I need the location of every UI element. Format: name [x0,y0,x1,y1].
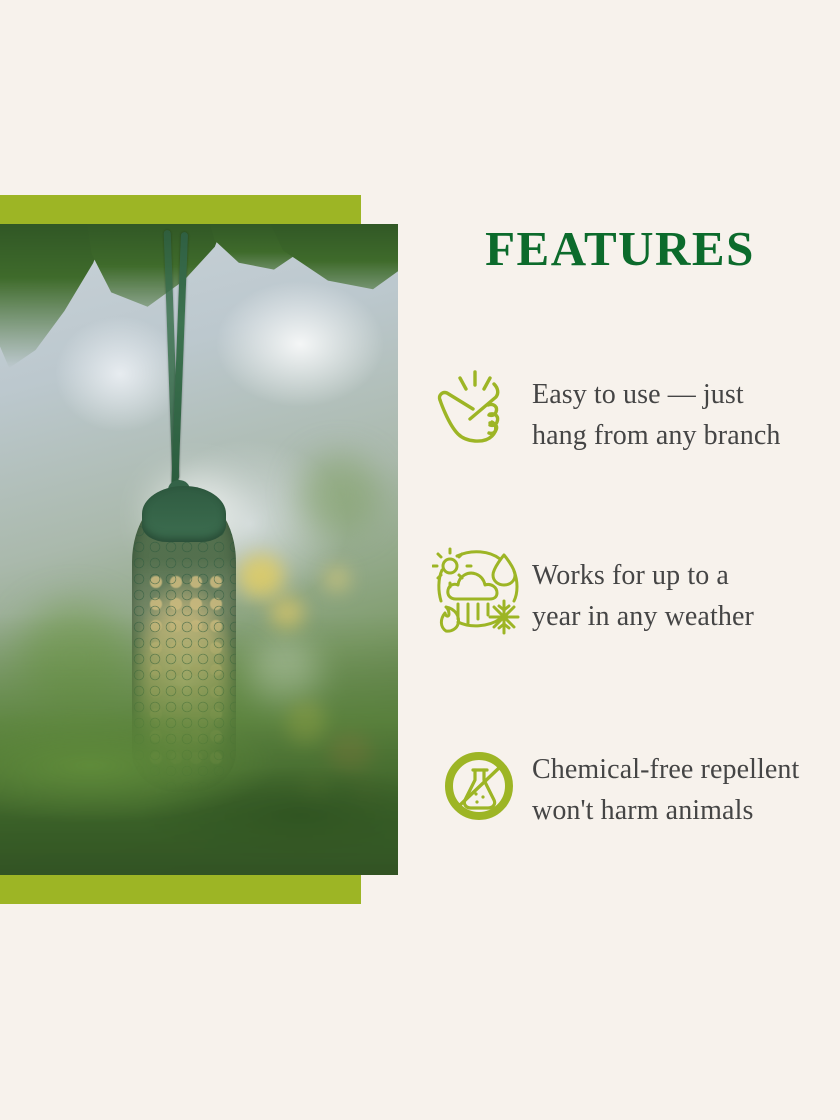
mesh-sack-neck [142,486,226,542]
photo-block [0,195,398,905]
accent-bar-top [0,195,361,225]
product-photo [0,224,398,875]
accent-bar-bottom [0,874,361,904]
feature-line-1: Chemical-free repellent [532,749,799,790]
feature-line-1: Works for up to a [532,555,754,596]
features-panel: FEATURES Easy to use — just hang fr [420,0,840,1120]
snapping-hand-icon [432,362,532,454]
product-feature-card: FEATURES Easy to use — just hang fr [0,0,840,1120]
bokeh-yellow [238,554,284,598]
feature-line-2: won't harm animals [532,790,799,831]
feature-line-2: year in any weather [532,596,754,637]
foreground-spruce-branch [0,615,398,875]
feature-item-chemical-free: Chemical-free repellent won't harm anima… [432,731,832,831]
feature-line-2: hang from any branch [532,415,780,456]
feature-text: Works for up to a year in any weather [532,543,754,637]
feature-text: Chemical-free repellent won't harm anima… [532,731,799,831]
all-weather-icon [432,543,532,635]
bokeh-yellow [324,566,350,592]
page-title: FEATURES [420,224,820,273]
feature-text: Easy to use — just hang from any branch [532,362,780,456]
bokeh-green [300,454,380,534]
feature-item-all-weather: Works for up to a year in any weather [432,543,832,637]
no-chemicals-flask-icon [432,731,532,823]
feature-line-1: Easy to use — just [532,374,780,415]
feature-item-easy-to-use: Easy to use — just hang from any branch [432,362,832,456]
